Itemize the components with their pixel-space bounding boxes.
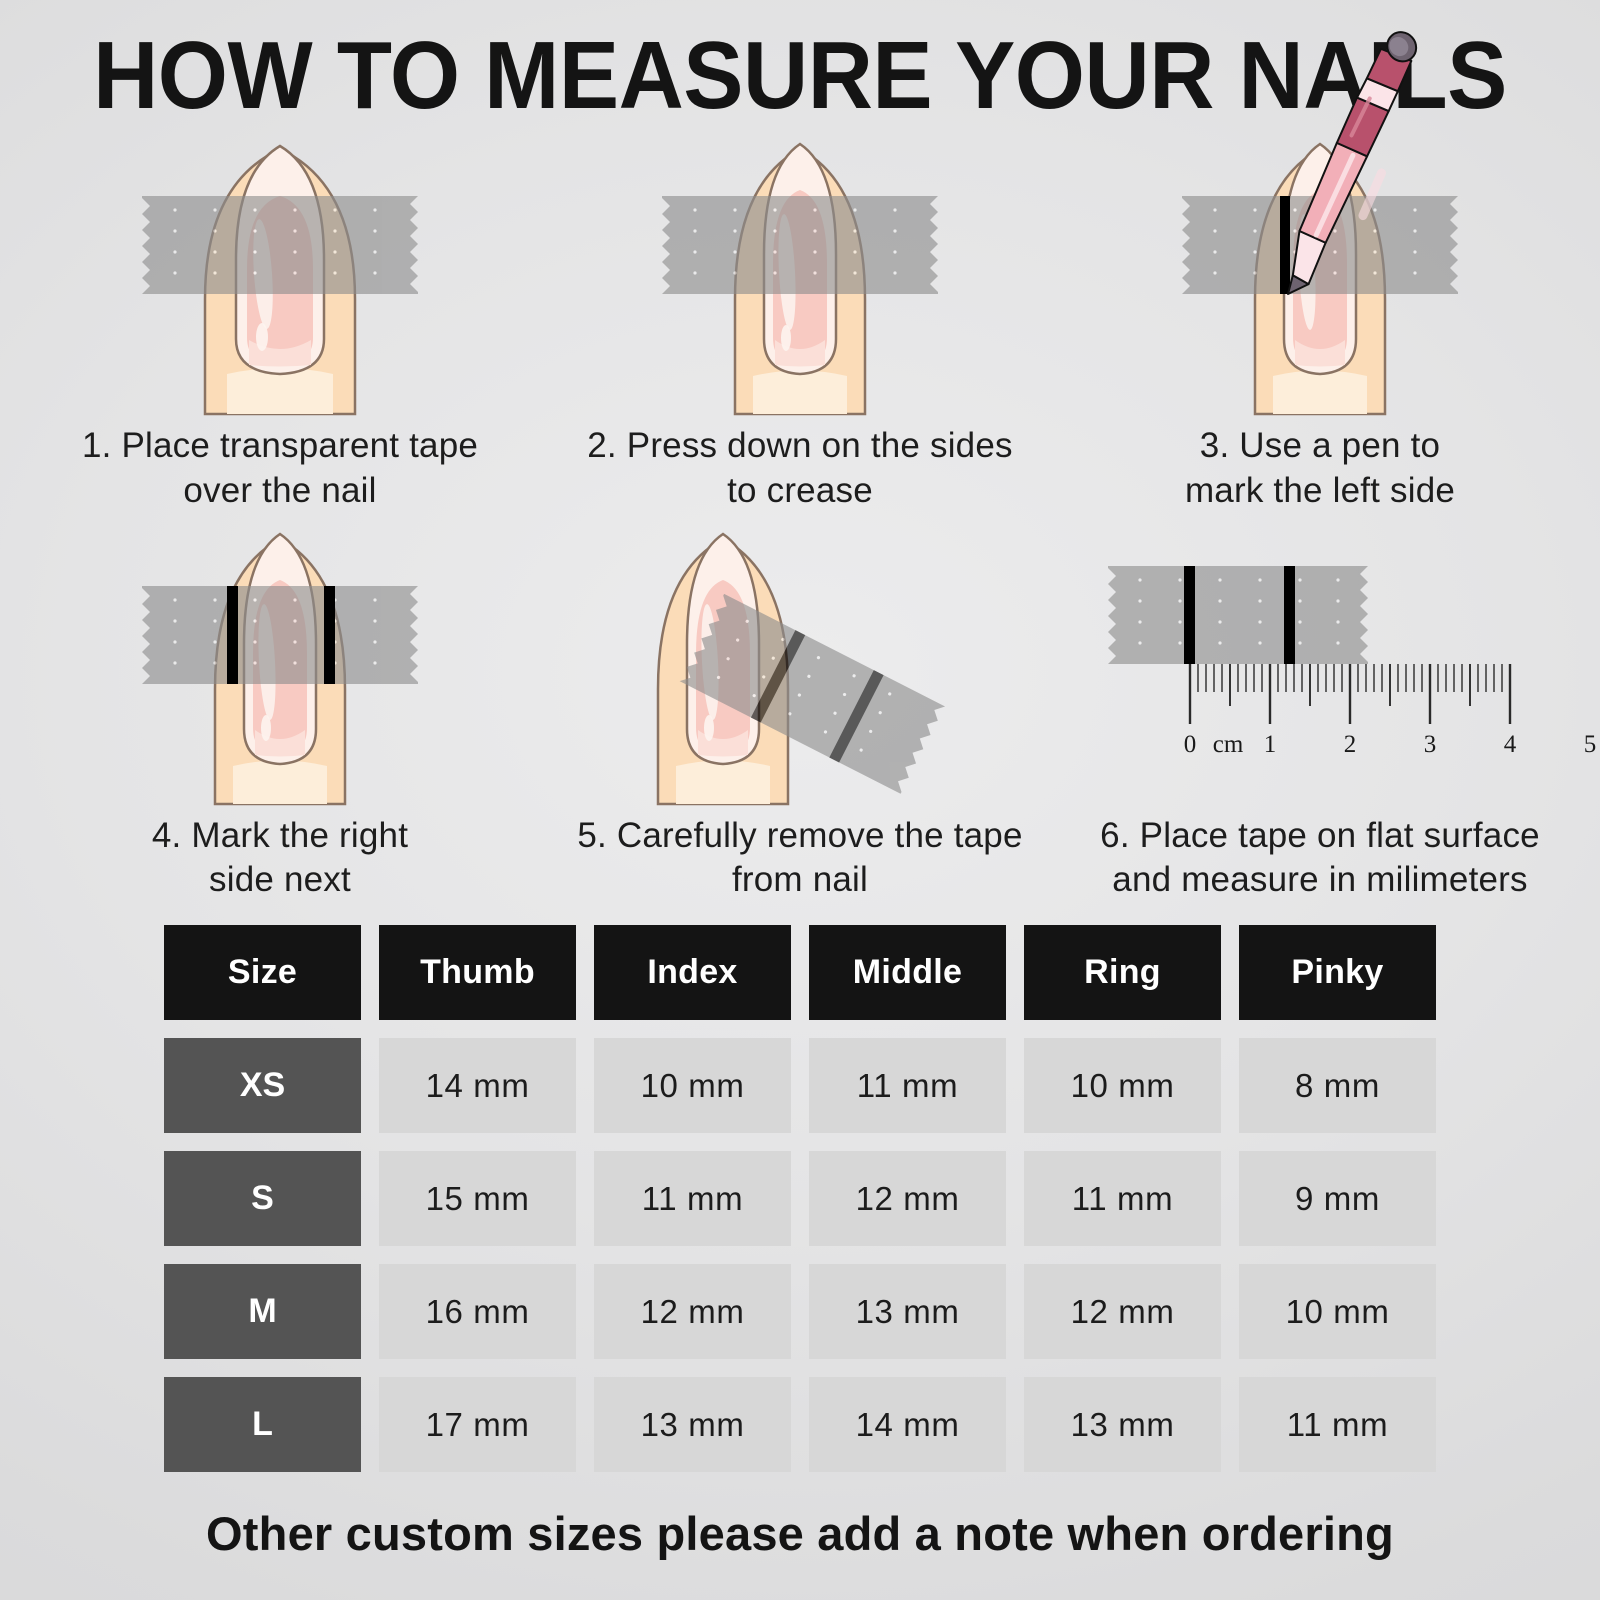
step-2: 2. Press down on the sides to crease [540, 124, 1060, 514]
ruler-tick-2: 2 [1344, 731, 1357, 758]
left-mark [1280, 196, 1290, 294]
table-header-thumb: Thumb [379, 925, 576, 1020]
ruler-tick-1: 1 [1264, 731, 1277, 758]
table-cell-s-ring: 11 mm [1024, 1151, 1221, 1246]
step-4-caption-line1: 4. Mark the right [20, 814, 540, 859]
table-header-pinky: Pinky [1239, 925, 1436, 1020]
tape-strip [142, 196, 418, 294]
step-3-caption-line1: 3. Use a pen to [1060, 424, 1580, 469]
step-4-caption-line2: side next [20, 858, 540, 903]
table-cell-xs-middle: 11 mm [809, 1038, 1006, 1133]
step-5: 5. Carefully remove the tape from nail [540, 514, 1060, 904]
left-mark [1184, 566, 1195, 664]
table-row-size-s: S [164, 1151, 361, 1246]
footer-note: Other custom sizes please add a note whe… [0, 1506, 1600, 1561]
step-2-caption-line1: 2. Press down on the sides [540, 424, 1060, 469]
table-row-size-l: L [164, 1377, 361, 1472]
step-6-caption-line2: and measure in milimeters [1060, 858, 1580, 903]
table-cell-l-ring: 13 mm [1024, 1377, 1221, 1472]
tape-strip [1108, 566, 1368, 664]
left-mark [227, 586, 238, 684]
step-2-caption-line2: to crease [540, 469, 1060, 514]
table-cell-xs-thumb: 14 mm [379, 1038, 576, 1133]
table-cell-s-thumb: 15 mm [379, 1151, 576, 1246]
ruler-unit-label: cm [1213, 731, 1244, 758]
size-chart-table: Size Thumb Index Middle Ring Pinky XS 14… [164, 925, 1436, 1472]
table-cell-s-pinky: 9 mm [1239, 1151, 1436, 1246]
table-header-size: Size [164, 925, 361, 1020]
table-cell-l-pinky: 11 mm [1239, 1377, 1436, 1472]
table-cell-l-middle: 14 mm [809, 1377, 1006, 1472]
step-2-caption: 2. Press down on the sides to crease [540, 424, 1060, 514]
step-4-caption: 4. Mark the right side next [20, 814, 540, 904]
step-1-caption-line2: over the nail [20, 469, 540, 514]
table-row-size-xs: XS [164, 1038, 361, 1133]
ruler-tick-5: 5 [1584, 731, 1597, 758]
step-3-illustration [1060, 124, 1580, 414]
table-cell-m-thumb: 16 mm [379, 1264, 576, 1359]
table-cell-s-middle: 12 mm [809, 1151, 1006, 1246]
table-cell-m-middle: 13 mm [809, 1264, 1006, 1359]
step-6-caption: 6. Place tape on flat surface and measur… [1060, 814, 1580, 904]
step-5-caption-line1: 5. Carefully remove the tape [540, 814, 1060, 859]
table-cell-s-index: 11 mm [594, 1151, 791, 1246]
step-1: 1. Place transparent tape over the nail [20, 124, 540, 514]
ruler-tick-3: 3 [1424, 731, 1437, 758]
ruler-tick-4: 4 [1504, 731, 1517, 758]
step-6-illustration: 0 cm 1 2 3 4 5 [1060, 514, 1580, 804]
table-row-size-m: M [164, 1264, 361, 1359]
step-3: 3. Use a pen to mark the left side [1060, 124, 1580, 514]
table-cell-l-index: 13 mm [594, 1377, 791, 1472]
step-2-illustration [540, 124, 1060, 414]
ruler-labels: 0 cm 1 2 3 4 5 [1184, 731, 1597, 758]
tape-strip [662, 196, 938, 294]
right-mark [1284, 566, 1295, 664]
table-header-index: Index [594, 925, 791, 1020]
table-cell-xs-pinky: 8 mm [1239, 1038, 1436, 1133]
tape-strip [142, 586, 418, 684]
step-6: 0 cm 1 2 3 4 5 6. Place tape on flat sur… [1060, 514, 1580, 904]
ruler: 0 cm 1 2 3 4 5 [1184, 664, 1597, 758]
step-1-caption: 1. Place transparent tape over the nail [20, 424, 540, 514]
steps-row-1: 1. Place transparent tape over the nail [20, 124, 1580, 514]
step-3-caption-line2: mark the left side [1060, 469, 1580, 514]
right-mark [324, 586, 335, 684]
table-cell-m-ring: 12 mm [1024, 1264, 1221, 1359]
table-header-ring: Ring [1024, 925, 1221, 1020]
table-cell-l-thumb: 17 mm [379, 1377, 576, 1472]
step-5-caption-line2: from nail [540, 858, 1060, 903]
step-3-caption: 3. Use a pen to mark the left side [1060, 424, 1580, 514]
page-title: HOW TO MEASURE YOUR NAILS [48, 0, 1552, 124]
step-5-illustration [540, 514, 1060, 804]
table-header-middle: Middle [809, 925, 1006, 1020]
step-1-caption-line1: 1. Place transparent tape [20, 424, 540, 469]
step-4: 4. Mark the right side next [20, 514, 540, 904]
step-4-illustration [20, 514, 540, 804]
ruler-tick-0: 0 [1184, 731, 1197, 758]
table-cell-xs-index: 10 mm [594, 1038, 791, 1133]
table-cell-m-pinky: 10 mm [1239, 1264, 1436, 1359]
step-5-caption: 5. Carefully remove the tape from nail [540, 814, 1060, 904]
step-6-caption-line1: 6. Place tape on flat surface [1060, 814, 1580, 859]
table-cell-xs-ring: 10 mm [1024, 1038, 1221, 1133]
table-cell-m-index: 12 mm [594, 1264, 791, 1359]
steps-row-2: 4. Mark the right side next [20, 514, 1580, 904]
step-1-illustration [20, 124, 540, 414]
